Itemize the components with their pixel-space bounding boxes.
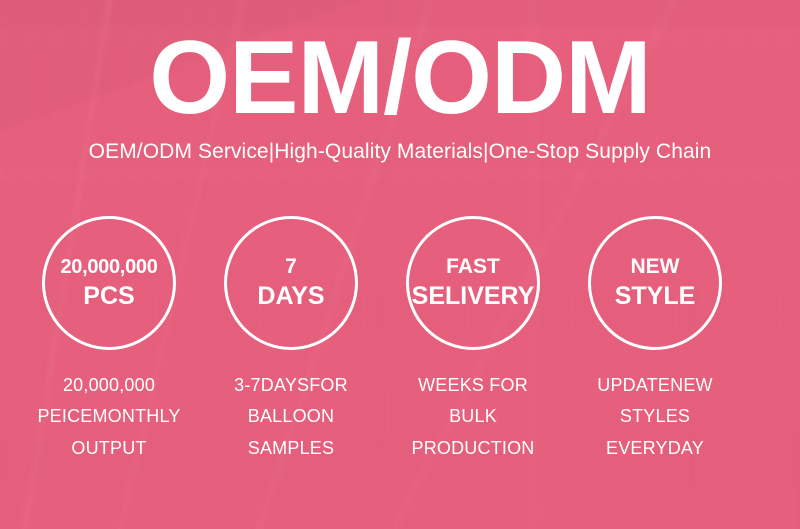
feature-circle-output: 20,000,000 PCS	[42, 216, 176, 350]
feature-item-style: NEW STYLE UPDATENEW STYLES EVERYDAY	[564, 216, 746, 464]
banner-subtitle: OEM/ODM Service|High-Quality Materials|O…	[0, 140, 800, 164]
caption-line-3: SAMPLES	[234, 433, 348, 464]
caption-line-3: PRODUCTION	[412, 433, 535, 464]
oem-odm-promo-banner: OEM/ODM OEM/ODM Service|High-Quality Mat…	[0, 0, 800, 529]
caption-line-1: UPDATENEW	[597, 370, 712, 401]
circle-line-2: STYLE	[615, 280, 696, 313]
circle-line-1: 7	[285, 253, 297, 280]
feature-circle-style: NEW STYLE	[588, 216, 722, 350]
feature-circle-delivery: FAST SELIVERY	[406, 216, 540, 350]
circle-line-1: 20,000,000	[60, 254, 157, 280]
caption-line-2: BULK	[412, 401, 535, 432]
circle-line-2: DAYS	[257, 280, 324, 313]
feature-item-output: 20,000,000 PCS 20,000,000 PEICEMONTHLY O…	[18, 216, 200, 464]
feature-caption-style: UPDATENEW STYLES EVERYDAY	[597, 370, 712, 464]
banner-content: OEM/ODM OEM/ODM Service|High-Quality Mat…	[0, 0, 800, 529]
caption-line-1: 20,000,000	[37, 370, 180, 401]
feature-item-samples: 7 DAYS 3-7DAYSFOR BALLOON SAMPLES	[200, 216, 382, 464]
feature-caption-output: 20,000,000 PEICEMONTHLY OUTPUT	[37, 370, 180, 464]
feature-caption-samples: 3-7DAYSFOR BALLOON SAMPLES	[234, 370, 348, 464]
circle-line-1: NEW	[631, 253, 680, 280]
caption-line-2: PEICEMONTHLY	[37, 401, 180, 432]
circle-line-1: FAST	[446, 253, 500, 280]
circle-line-2: PCS	[83, 280, 134, 313]
feature-circle-samples: 7 DAYS	[224, 216, 358, 350]
caption-line-3: EVERYDAY	[597, 433, 712, 464]
caption-line-2: STYLES	[597, 401, 712, 432]
banner-title: OEM/ODM	[0, 24, 800, 133]
caption-line-3: OUTPUT	[37, 433, 180, 464]
feature-item-delivery: FAST SELIVERY WEEKS FOR BULK PRODUCTION	[382, 216, 564, 464]
caption-line-1: WEEKS FOR	[412, 370, 535, 401]
caption-line-2: BALLOON	[234, 401, 348, 432]
feature-caption-delivery: WEEKS FOR BULK PRODUCTION	[412, 370, 535, 464]
circle-line-2: SELIVERY	[412, 280, 535, 313]
feature-list: 20,000,000 PCS 20,000,000 PEICEMONTHLY O…	[18, 216, 782, 464]
caption-line-1: 3-7DAYSFOR	[234, 370, 348, 401]
